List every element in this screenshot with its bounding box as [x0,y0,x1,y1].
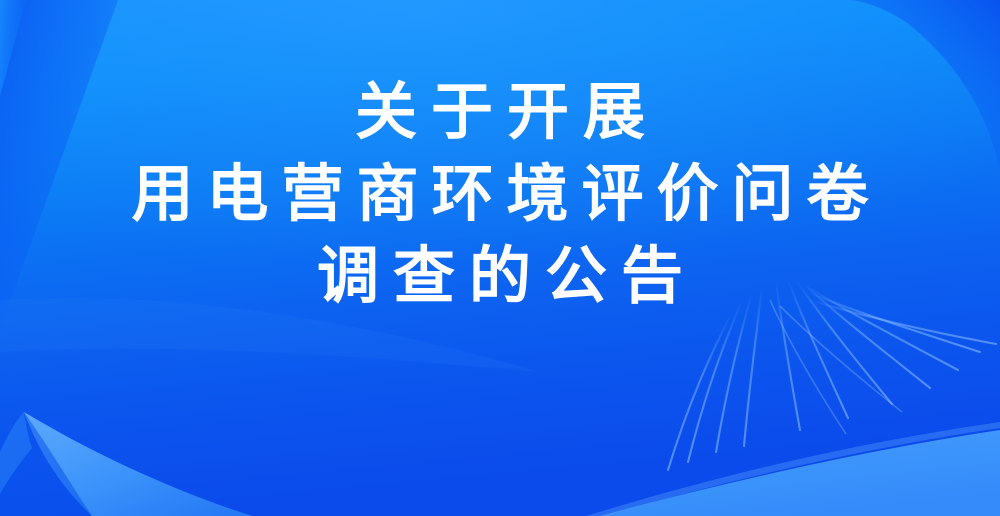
title-line-1: 关于开展 [0,82,1000,144]
title-line-2: 用电营商环境评价问卷 [0,164,1000,226]
announcement-banner: 关于开展 用电营商环境评价问卷 调查的公告 [0,0,1000,516]
title-line-3: 调查的公告 [0,246,1000,308]
page-title: 关于开展 用电营商环境评价问卷 调查的公告 [0,82,1000,308]
